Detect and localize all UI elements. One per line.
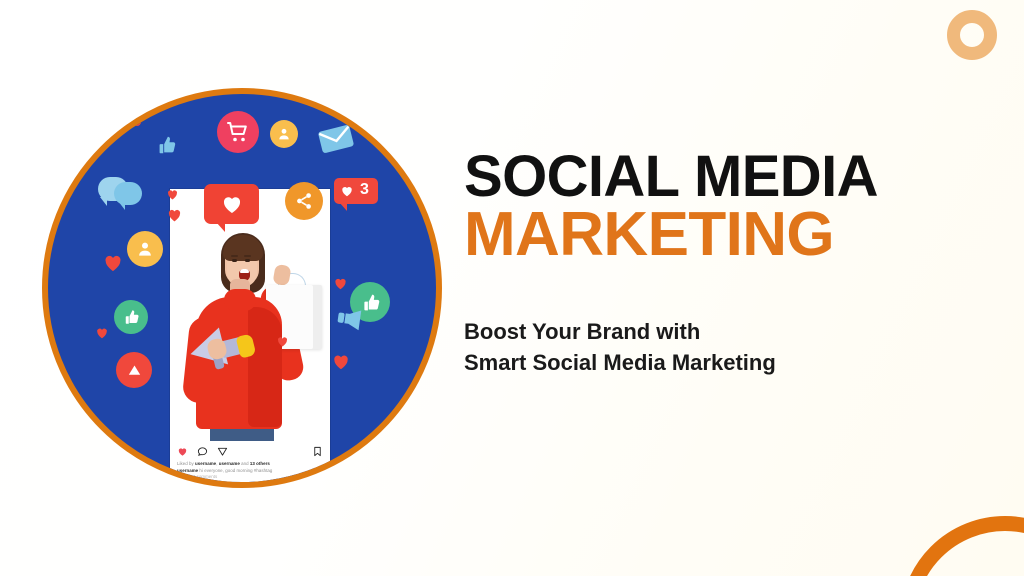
heart-small-glyph-6 <box>331 352 351 370</box>
likes-prefix: Liked by <box>177 461 195 466</box>
post-photo <box>170 189 330 441</box>
comment-icon[interactable] <box>197 446 208 457</box>
heart-small-glyph-3 <box>95 326 109 339</box>
person-eyebrow-left <box>231 255 238 257</box>
user-small-icon <box>270 120 298 148</box>
megaphone-icon <box>335 306 366 332</box>
heart-small-icon-5 <box>333 276 348 290</box>
heart-small-icon-2 <box>102 252 124 272</box>
user-glyph <box>135 239 155 259</box>
decorative-ring-top-right <box>947 10 997 60</box>
heart-small-glyph-5 <box>333 276 348 290</box>
thumbs-up-glyph <box>122 308 140 326</box>
comment-bubbles-icon <box>98 177 142 209</box>
post-caption-block: Liked by username, username and 13 other… <box>177 461 323 481</box>
heart-small-icon-1 <box>166 207 183 222</box>
person-eye-left <box>232 259 237 262</box>
heart-small-glyph-4 <box>166 188 179 200</box>
bookmark-icon[interactable] <box>312 446 323 457</box>
heart-small-icon-4 <box>166 187 179 199</box>
like-badge-icon: 3 <box>334 178 378 212</box>
subheadline-line-1: Boost Your Brand with <box>464 316 776 347</box>
likes-middle: and <box>240 461 250 466</box>
badge-count: 3 <box>360 181 369 199</box>
person-eye-right <box>245 259 250 262</box>
post-caption-line: username hi everyone, good morning #hash… <box>177 468 323 475</box>
envelope-glyph <box>316 122 355 155</box>
caption-username[interactable]: username <box>177 468 198 473</box>
decorative-ring-bottom-right <box>900 516 1024 576</box>
person-eyebrow-right <box>244 255 251 257</box>
heart-small-glyph-2 <box>102 252 124 272</box>
like-badge-heart-glyph <box>340 184 354 198</box>
post-likes-line: Liked by username, username and 13 other… <box>177 461 323 468</box>
instagram-post-card: Liked by username, username and 13 other… <box>170 189 330 482</box>
heart-small-icon-7 <box>276 334 289 346</box>
user-small-glyph <box>276 126 292 142</box>
heart-small-icon-6 <box>331 352 351 370</box>
subheadline: Boost Your Brand with Smart Social Media… <box>464 316 776 378</box>
megaphone-glyph <box>335 306 366 332</box>
person-collar <box>224 289 256 311</box>
heart-bubble-small-icon <box>117 110 141 132</box>
likes-username-2[interactable]: username <box>219 461 240 466</box>
person-photo <box>170 189 330 441</box>
subheadline-line-2: Smart Social Media Marketing <box>464 347 776 378</box>
hero-photo-inner: Liked by username, username and 13 other… <box>48 94 436 482</box>
heart-bubble-icon <box>204 184 259 224</box>
slide-canvas: Liked by username, username and 13 other… <box>0 0 1024 576</box>
headline-primary: SOCIAL MEDIA <box>464 148 878 206</box>
caption-text: hi everyone, good morning #hashtag <box>198 468 272 473</box>
thumbs-up-small-icon <box>155 134 177 156</box>
play-glyph <box>126 362 143 379</box>
post-comments-link[interactable]: View 134 comments <box>177 474 323 481</box>
shopping-cart-glyph <box>226 120 250 144</box>
thumbs-up-icon <box>114 300 148 334</box>
hero-photo-circle: Liked by username, username and 13 other… <box>42 88 442 488</box>
play-icon <box>116 352 152 388</box>
person-torso-shadow <box>248 307 282 427</box>
heart-bubble-small-glyph <box>124 113 134 123</box>
heart-small-glyph-1 <box>166 207 183 222</box>
user-icon <box>127 231 163 267</box>
envelope-icon <box>316 122 355 155</box>
share-nodes-glyph <box>294 191 314 211</box>
heart-small-glyph-7 <box>276 335 289 347</box>
thumbs-up-small-glyph <box>155 134 177 156</box>
likes-username-1[interactable]: username <box>195 461 216 466</box>
likes-others-count[interactable]: 13 others <box>250 461 270 466</box>
shopping-cart-icon <box>217 111 259 153</box>
person-teeth <box>240 269 249 273</box>
heart-icon[interactable] <box>177 446 188 457</box>
share-nodes-icon <box>285 182 323 220</box>
share-icon[interactable] <box>217 446 228 457</box>
headline-secondary: MARKETING <box>464 204 834 266</box>
heart-bubble-glyph <box>220 192 244 216</box>
heart-small-icon-3 <box>95 326 109 339</box>
post-action-row <box>170 441 330 461</box>
